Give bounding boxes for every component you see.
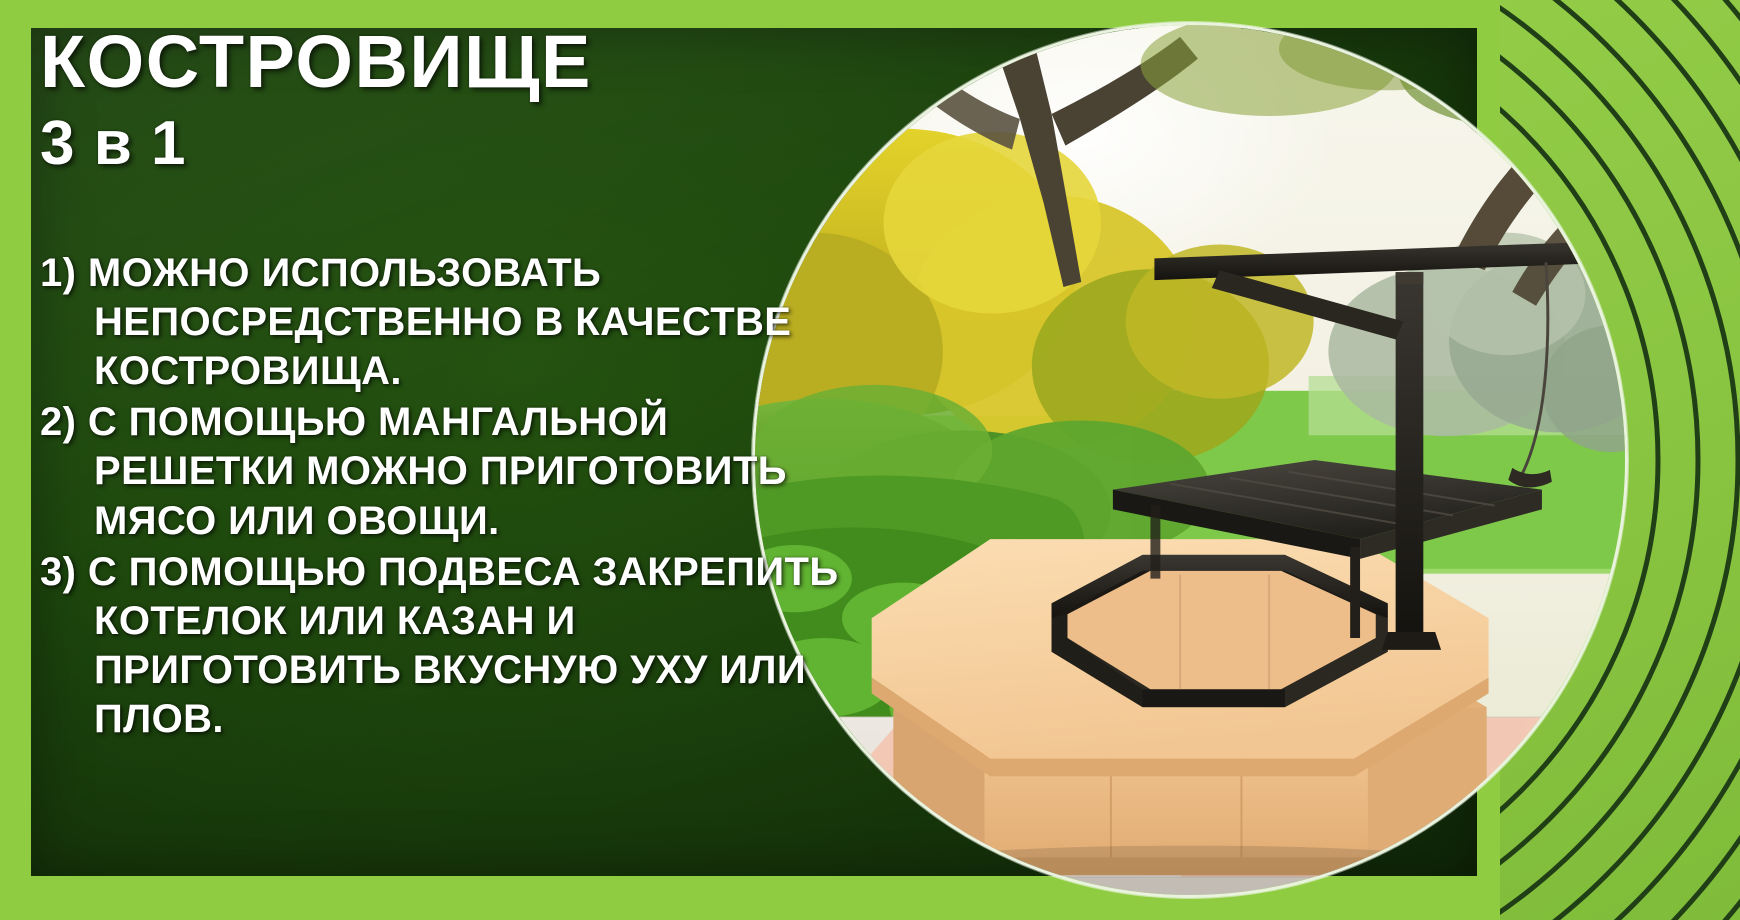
- feature-list: 1) МОЖНО ИСПОЛЬЗОВАТЬ НЕПОСРЕДСТВЕННО В …: [40, 249, 940, 745]
- page-subtitle: 3 в 1: [40, 111, 940, 176]
- poster-root: КОСТРОВИЩЕ 3 в 1 1) МОЖНО ИСПОЛЬЗОВАТЬ Н…: [0, 0, 1740, 920]
- page-title: КОСТРОВИЩЕ: [40, 24, 940, 99]
- text-block: КОСТРОВИЩЕ 3 в 1 1) МОЖНО ИСПОЛЬЗОВАТЬ Н…: [40, 24, 940, 746]
- list-item: 1) МОЖНО ИСПОЛЬЗОВАТЬ НЕПОСРЕДСТВЕННО В …: [40, 249, 940, 397]
- list-item: 2) С ПОМОЩЬЮ МАНГАЛЬНОЙ РЕШЕТКИ МОЖНО ПР…: [40, 398, 940, 546]
- list-item: 3) С ПОМОЩЬЮ ПОДВЕСА ЗАКРЕПИТЬ КОТЕЛОК И…: [40, 548, 940, 745]
